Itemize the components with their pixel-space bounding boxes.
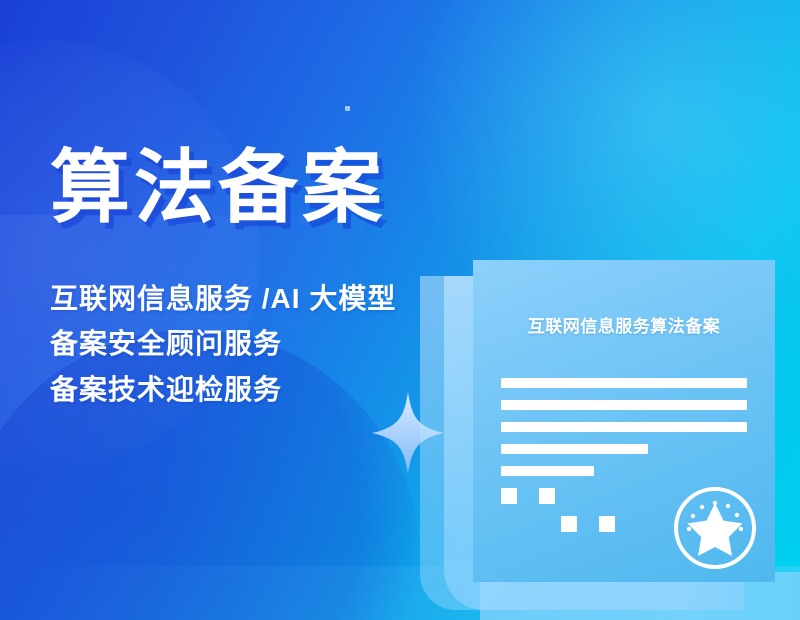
subtitle-line-1: 互联网信息服务 /AI 大模型 [50,276,450,321]
document-line [501,444,648,454]
subtitle-line-2: 备案安全顾问服务 [50,321,450,366]
star-seal-icon [669,482,761,574]
document-block [501,488,517,504]
document-line [501,422,747,432]
document-block [561,516,577,532]
page-title: 算法备案 [50,148,450,228]
document-block [599,516,615,532]
dot-speck-icon [345,106,350,111]
certificate-title: 互联网信息服务算法备案 [473,312,775,337]
document-line [501,466,594,476]
certificate-card-stack: 互联网信息服务算法备案 [420,250,800,620]
document-line [501,378,747,388]
headline-block: 算法备案 互联网信息服务 /AI 大模型 备案安全顾问服务 备案技术迎检服务 [50,148,450,412]
certificate-card-front: 互联网信息服务算法备案 [473,260,775,582]
document-block [539,488,555,504]
document-line [501,400,747,410]
algorithm-filing-banner: 算法备案 互联网信息服务 /AI 大模型 备案安全顾问服务 备案技术迎检服务 互… [0,0,800,620]
